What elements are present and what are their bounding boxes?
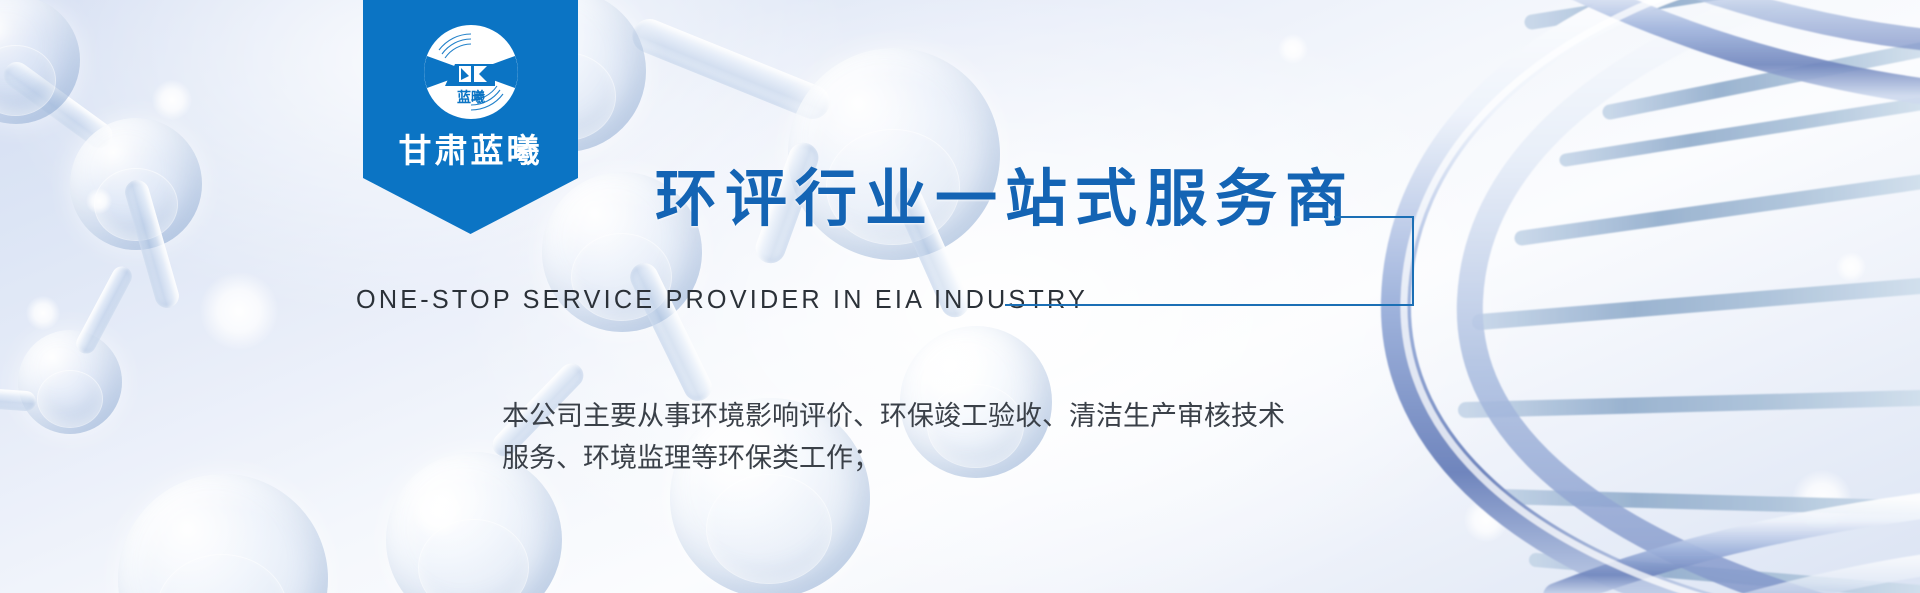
hero-banner: 蓝曦 甘肃蓝曦 环评行业一站式服务商 ONE-STOP SERVICE PROV… [0,0,1920,593]
description-line-1: 本公司主要从事环境影响评价、环保竣工验收、清洁生产审核技术 [502,396,1302,438]
logo-text: 蓝曦 [457,89,485,106]
decor-rule-bottom [1005,304,1414,306]
brand-ribbon: 蓝曦 甘肃蓝曦 [363,0,578,234]
company-name: 甘肃蓝曦 [363,124,578,172]
decor-rule-vertical [1412,216,1414,306]
blue-dawn-emblem-icon: 蓝曦 [419,20,523,124]
description-line-2: 服务、环境监理等环保类工作； [502,438,1302,480]
page-subtitle: ONE-STOP SERVICE PROVIDER IN EIA INDUSTR… [356,284,1088,315]
decor-rule-top [1334,216,1414,218]
page-title: 环评行业一站式服务商 [655,148,1355,238]
description-text: 本公司主要从事环境影响评价、环保竣工验收、清洁生产审核技术 服务、环境监理等环保… [502,396,1302,480]
dna-helix-icon [1360,0,1920,593]
